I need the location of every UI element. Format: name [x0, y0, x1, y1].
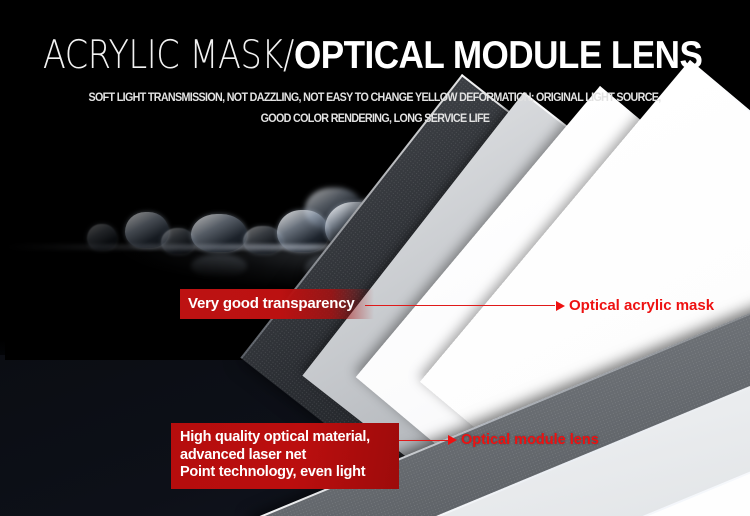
marker-optical-acrylic-mask: Optical acrylic mask: [556, 297, 714, 314]
marker-label-acrylic-mask: Optical acrylic mask: [569, 297, 714, 314]
leader-line-acrylic-mask: [365, 305, 555, 306]
tag-very-good-transparency: Very good transparency: [180, 289, 374, 319]
subtitle-line-2: GOOD COLOR RENDERING, LONG SERVICE LIFE: [0, 113, 750, 125]
product-banner: ACRYLIC MASK/OPTICAL MODULE LENS SOFT LI…: [0, 0, 750, 516]
tag-line-3: Point technology, even light: [180, 464, 390, 482]
subtitle-text-1: SOFT LIGHT TRANSMISSION, NOT DAZZLING, N…: [89, 92, 661, 104]
title-acrylic-mask: ACRYLIC MASK/: [43, 36, 294, 75]
marker-label-module-lens: Optical module lens: [461, 432, 599, 448]
arrow-right-icon: [556, 301, 565, 311]
page-title: ACRYLIC MASK/OPTICAL MODULE LENS: [0, 36, 750, 75]
subtitle-text-2: GOOD COLOR RENDERING, LONG SERVICE LIFE: [261, 113, 490, 125]
tag-high-quality-material: High quality optical material, advanced …: [171, 423, 399, 489]
tag-line-2: advanced laser net: [180, 447, 390, 465]
title-optical-module-lens: OPTICAL MODULE LENS: [294, 36, 702, 75]
arrow-right-icon: [448, 435, 457, 445]
leader-line-module-lens: [391, 440, 448, 441]
tag-line-1: High quality optical material,: [180, 429, 390, 447]
marker-optical-module-lens: Optical module lens: [448, 432, 599, 448]
subtitle-line-1: SOFT LIGHT TRANSMISSION, NOT DAZZLING, N…: [0, 92, 750, 104]
